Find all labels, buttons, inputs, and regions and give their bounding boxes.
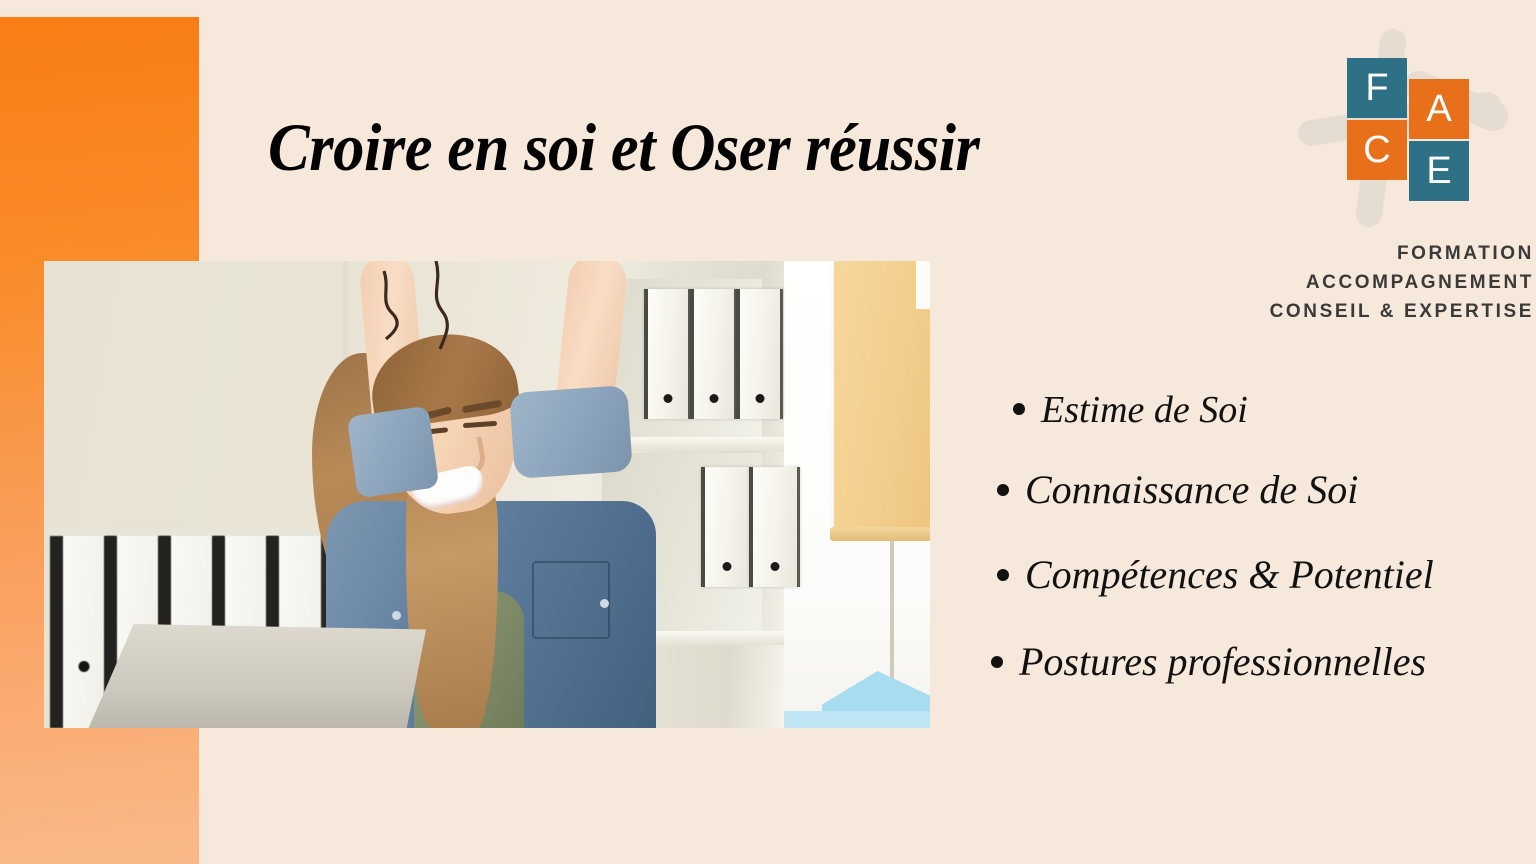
shirt-pocket [532,561,610,639]
bullet-label: Compétences & Potentiel [1025,551,1434,598]
photo-scene [44,261,930,728]
list-item: Estime de Soi [1013,388,1535,432]
shirt-button [600,599,609,608]
laptop-screen [86,624,426,728]
blind-bottom-bar [830,527,930,541]
binder [749,467,800,587]
page-title: Croire en soi et Oser réussir [268,112,1096,183]
binder-hole [771,562,780,571]
bullet-label: Postures professionnelles [1019,638,1426,685]
tagline-line-2: ACCOMPAGNEMENT [1258,269,1534,298]
ceiling-wires-icon [44,261,930,461]
binder-hole [79,661,90,672]
tagline-line-1: FORMATION [1258,240,1534,269]
logo-tagline: FORMATION ACCOMPAGNEMENT CONSEIL & EXPER… [1258,240,1534,327]
blue-floor-strip [784,711,930,728]
tagline-line-3: CONSEIL & EXPERTISE [1258,298,1534,327]
logo-square-f: F [1347,58,1407,118]
slide-canvas: Croire en soi et Oser réussir [0,0,1536,864]
logo-square-c: C [1347,120,1407,180]
bullet-list: Estime de Soi Connaissance de Soi Compét… [975,388,1535,685]
logo-squares: F A C E [1347,58,1477,198]
bullet-dot-icon [991,656,1003,668]
bullet-dot-icon [1013,403,1025,415]
logo-square-e: E [1409,141,1469,201]
list-item: Connaissance de Soi [997,466,1535,513]
shirt-button [392,611,401,620]
logo-square-a: A [1409,79,1469,139]
hero-photo [44,261,930,728]
list-item: Postures professionnelles [991,638,1535,685]
list-item: Compétences & Potentiel [997,551,1535,598]
bullet-dot-icon [997,484,1009,496]
bullet-label: Connaissance de Soi [1025,466,1358,513]
bullet-label: Estime de Soi [1041,388,1248,432]
blind-cord [890,541,894,681]
bullet-dot-icon [997,569,1009,581]
